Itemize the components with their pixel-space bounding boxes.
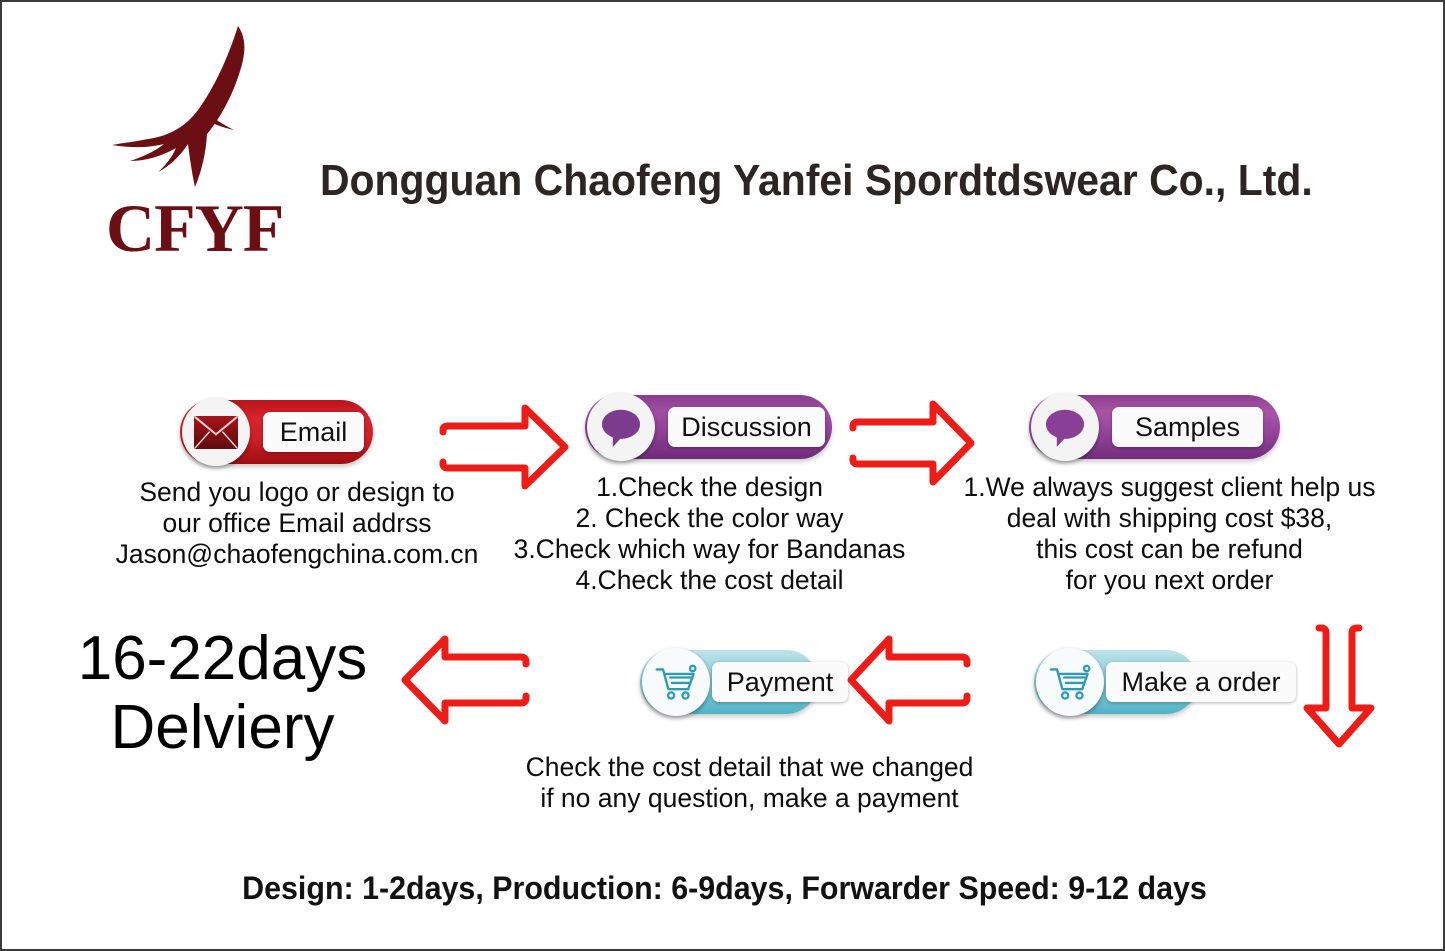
poster-page: CFYF Dongguan Chaofeng Yanfei Spordtdswe… bbox=[0, 0, 1445, 951]
step-badge-make-a-order[interactable]: Make a order bbox=[1034, 650, 1198, 714]
delivery-time-text: 16-22days Delviery bbox=[50, 624, 395, 762]
desc-line: Check the cost detail that we changed bbox=[507, 752, 992, 783]
flying-bird-icon bbox=[110, 24, 290, 189]
delivery-line: Delviery bbox=[50, 693, 395, 762]
description-samples: 1.We always suggest client help us deal … bbox=[937, 472, 1402, 596]
arrow-order-to-payment bbox=[847, 634, 971, 731]
arrow-samples-to-order bbox=[1289, 624, 1389, 753]
speech-bubble-icon bbox=[1031, 393, 1099, 461]
description-email: Send you logo or design to our office Em… bbox=[102, 477, 492, 570]
desc-line: Send you logo or design to bbox=[102, 477, 492, 508]
delivery-line: 16-22days bbox=[50, 624, 395, 693]
desc-line: for you next order bbox=[937, 565, 1402, 596]
badge-label: Make a order bbox=[1106, 662, 1296, 702]
badge-label: Payment bbox=[712, 662, 848, 702]
badge-label: Discussion bbox=[668, 407, 825, 447]
desc-line: our office Email addrss bbox=[102, 508, 492, 539]
desc-line: 3.Check which way for Bandanas bbox=[502, 534, 917, 565]
desc-line: deal with shipping cost $38, bbox=[937, 503, 1402, 534]
logo-wordmark: CFYF bbox=[106, 194, 283, 262]
desc-line: 4.Check the cost detail bbox=[502, 565, 917, 596]
shopping-cart-icon bbox=[1036, 648, 1104, 716]
step-badge-samples[interactable]: Samples bbox=[1029, 395, 1280, 459]
header: CFYF Dongguan Chaofeng Yanfei Spordtdswe… bbox=[2, 2, 1445, 292]
desc-line: this cost can be refund bbox=[937, 534, 1402, 565]
desc-line: 1.We always suggest client help us bbox=[937, 472, 1402, 503]
badge-label: Email bbox=[263, 412, 364, 452]
shopping-cart-icon bbox=[642, 648, 710, 716]
step-badge-email[interactable]: Email bbox=[180, 400, 373, 464]
description-payment: Check the cost detail that we changed if… bbox=[507, 752, 992, 814]
desc-line: 2. Check the color way bbox=[502, 503, 917, 534]
desc-line: if no any question, make a payment bbox=[507, 783, 992, 814]
arrow-payment-to-delivery bbox=[400, 634, 530, 731]
speech-bubble-icon bbox=[587, 393, 655, 461]
envelope-icon bbox=[182, 398, 250, 466]
desc-line: Jason@chaofengchina.com.cn bbox=[102, 539, 492, 570]
footer-summary: Design: 1-2days, Production: 6-9days, Fo… bbox=[38, 868, 1411, 908]
step-badge-payment[interactable]: Payment bbox=[640, 650, 818, 714]
badge-label: Samples bbox=[1112, 407, 1263, 447]
step-badge-discussion[interactable]: Discussion bbox=[585, 395, 832, 459]
company-title: Dongguan Chaofeng Yanfei Spordtdswear Co… bbox=[320, 155, 1313, 207]
